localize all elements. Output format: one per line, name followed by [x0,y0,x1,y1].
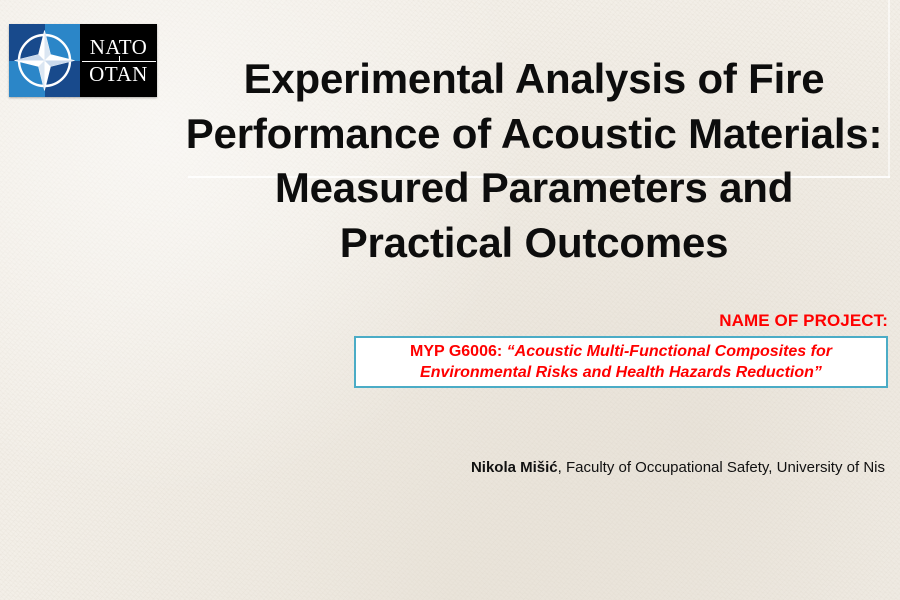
nato-otan-logo: NATO OTAN [9,24,157,97]
author-name: Nikola Mišić [471,459,558,476]
title-line-2: Performance of Acoustic Materials: [178,107,890,162]
nato-compass-emblem [9,24,80,97]
author-line: Nikola Mišić, Faculty of Occupational Sa… [380,459,885,476]
project-title-box: MYP G6006: “Acoustic Multi-Functional Co… [354,336,888,388]
title-line-3: Measured Parameters and [178,161,890,216]
logo-word-otan: OTAN [89,64,148,85]
project-code: MYP G6006: [410,343,507,360]
logo-word-nato: NATO [90,37,148,58]
project-title-text: MYP G6006: “Acoustic Multi-Functional Co… [410,341,832,383]
title-line-1: Experimental Analysis of Fire [178,52,890,107]
slide-title: Experimental Analysis of Fire Performanc… [178,52,890,270]
logo-divider [82,61,156,62]
presentation-slide: NATO OTAN Experimental Analysis of Fire … [0,0,900,600]
project-quoted-line-2: Environmental Risks and Health Hazards R… [420,364,822,381]
title-line-4: Practical Outcomes [178,216,890,271]
project-quoted-line-1: “Acoustic Multi-Functional Composites fo… [507,343,832,360]
project-name-label: NAME OF PROJECT: [388,311,888,331]
compass-star-icon [9,24,80,97]
nato-otan-wordmark: NATO OTAN [80,24,157,97]
author-affiliation: , Faculty of Occupational Safety, Univer… [558,459,885,476]
